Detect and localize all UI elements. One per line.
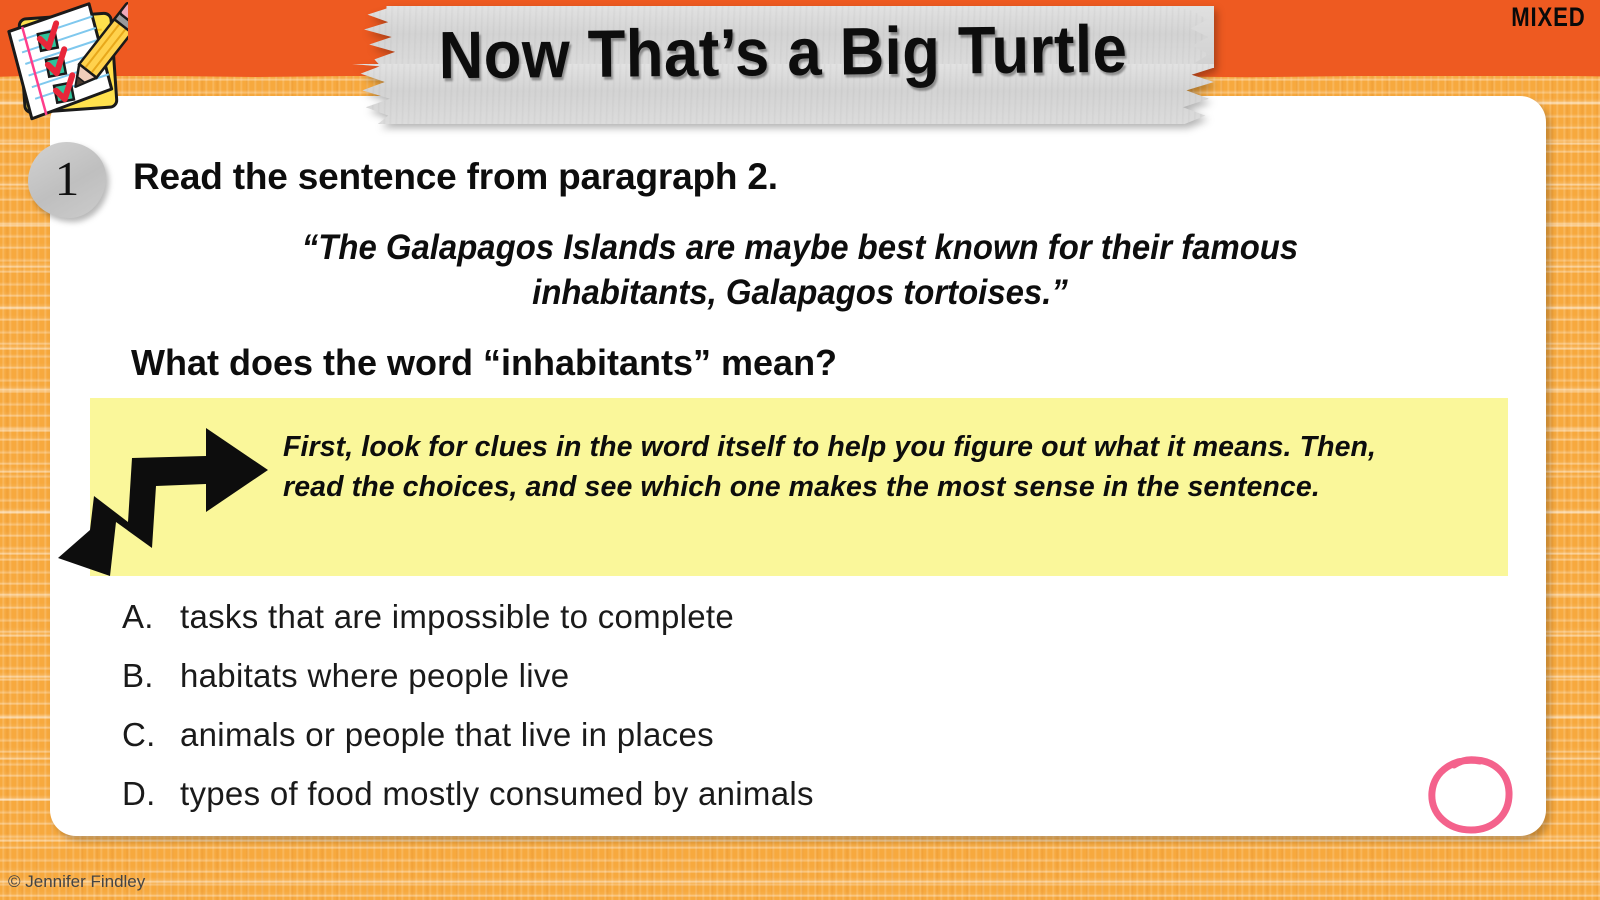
answer-text: types of food mostly consumed by animals (180, 775, 814, 813)
question-stem: What does the word “inhabitants” mean? (131, 342, 837, 384)
question-number: 1 (55, 154, 80, 203)
answer-choice-d[interactable]: D. types of food mostly consumed by anim… (122, 775, 1322, 834)
answer-choice-c[interactable]: C. animals or people that live in places (122, 716, 1322, 775)
title-tape-banner: Now That’s a Big Turtle (352, 6, 1214, 124)
zigzag-arrow-right-icon (56, 418, 272, 578)
answer-choice-b[interactable]: B. habitats where people live (122, 657, 1322, 716)
answer-text: animals or people that live in places (180, 716, 714, 754)
answer-choice-a[interactable]: A. tasks that are impossible to complete (122, 598, 1322, 657)
answer-text: habitats where people live (180, 657, 569, 695)
quoted-sentence: “The Galapagos Islands are maybe best kn… (227, 226, 1374, 316)
hint-text: First, look for clues in the word itself… (283, 427, 1443, 508)
answer-letter: A. (122, 598, 180, 636)
answer-letter: B. (122, 657, 180, 695)
hand-drawn-circle-annotation (1424, 754, 1516, 836)
answer-choices-list: A. tasks that are impossible to complete… (122, 598, 1322, 834)
notepad-checklist-pencil-icon (4, 2, 128, 128)
page-title: Now That’s a Big Turtle (386, 10, 1180, 95)
mixed-badge: MIXED (1512, 2, 1586, 33)
question-prompt: Read the sentence from paragraph 2. (133, 156, 778, 198)
answer-text: tasks that are impossible to complete (180, 598, 734, 636)
answer-letter: D. (122, 775, 180, 813)
answer-letter: C. (122, 716, 180, 754)
question-number-badge: 1 (28, 142, 106, 218)
copyright-credit: © Jennifer Findley (8, 872, 145, 892)
